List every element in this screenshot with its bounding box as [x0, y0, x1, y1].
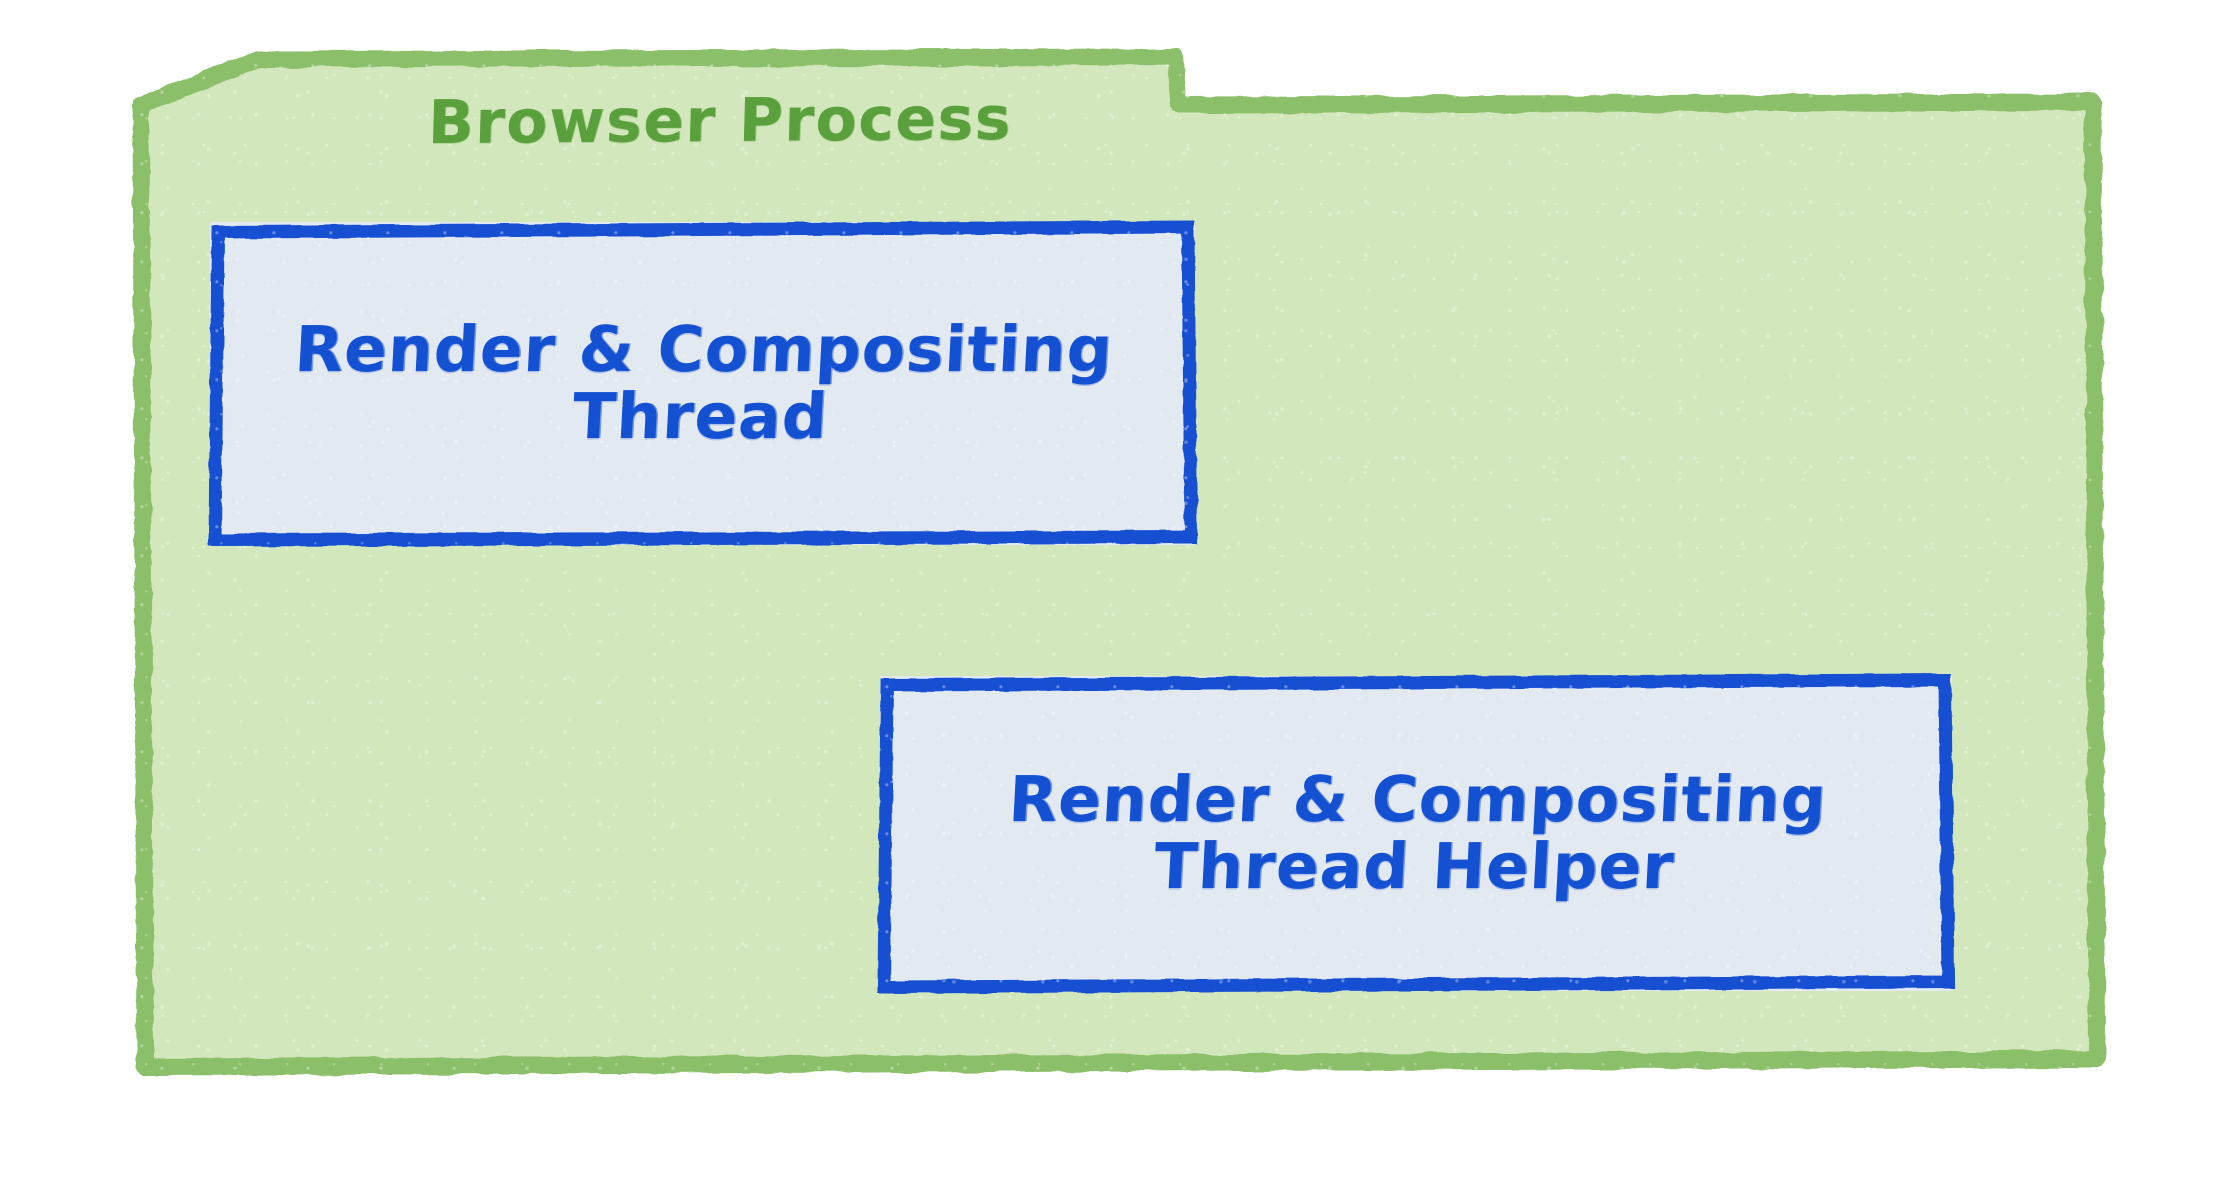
- diagram-canvas: Browser Process Render & Compositing Thr…: [0, 0, 2235, 1191]
- node-1-label-line-1: Render & Compositing: [293, 313, 1115, 386]
- node-render-compositing-thread[interactable]: Render & Compositing Thread: [210, 222, 1195, 545]
- node-2-label-line-1: Render & Compositing: [1007, 763, 1829, 836]
- node-1-label-line-2: Thread: [571, 380, 830, 453]
- node-render-compositing-thread-label: Render & Compositing Thread: [264, 317, 1141, 451]
- node-2-label-line-2: Thread Helper: [1152, 830, 1676, 903]
- node-render-compositing-thread-helper[interactable]: Render & Compositing Thread Helper: [880, 676, 1952, 991]
- process-group-title: Browser Process: [339, 72, 1102, 169]
- node-render-compositing-thread-helper-label: Render & Compositing Thread Helper: [977, 767, 1854, 901]
